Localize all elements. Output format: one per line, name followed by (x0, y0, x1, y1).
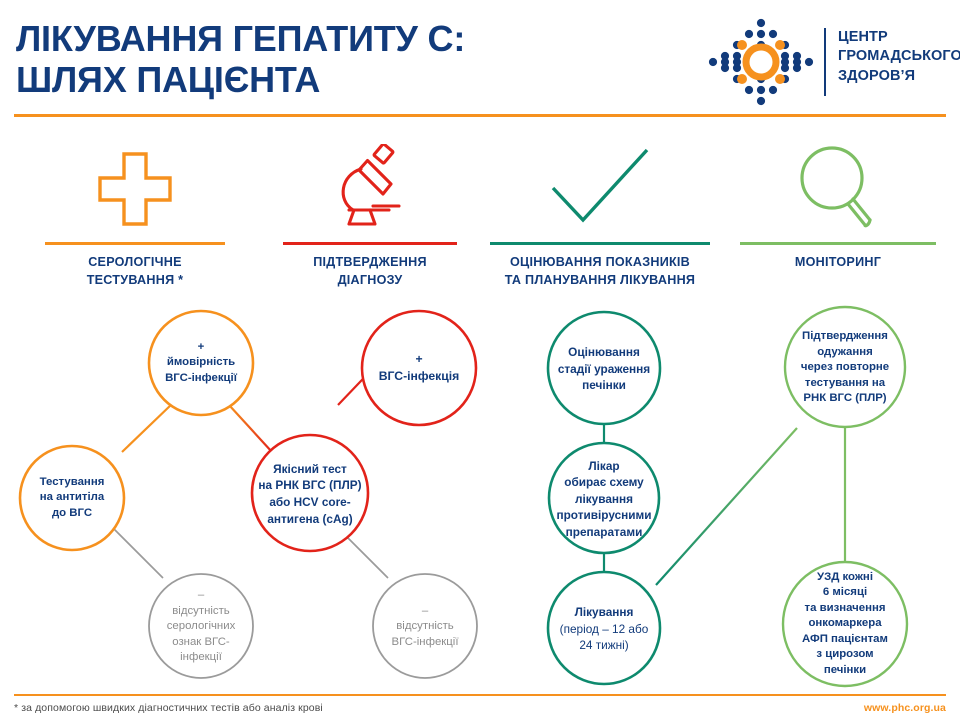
node-circle-cure-confirmation[interactable] (785, 307, 905, 427)
connector-rna-to-nohcv (343, 533, 388, 578)
infographic-page: ЛІКУВАННЯ ГЕПАТИТУ С: ШЛЯХ ПАЦІЄНТА (0, 0, 960, 720)
connector-treatment-to-cure (656, 428, 797, 585)
website-url[interactable]: www.phc.org.ua (864, 702, 946, 714)
node-circle-doctor-scheme[interactable] (549, 443, 659, 553)
node-circle-ultrasound[interactable] (783, 562, 907, 686)
node-circle-rna-test[interactable] (252, 435, 368, 551)
footnote-text: * за допомогою швидких діагностичних тес… (14, 702, 323, 714)
node-circle-probable-hcv[interactable] (149, 311, 253, 415)
footer-divider (14, 694, 946, 696)
node-circle-liver-stage[interactable] (548, 312, 660, 424)
node-circle-antibody-test[interactable] (20, 446, 124, 550)
connector-probable-to-rna (229, 405, 272, 452)
node-circle-hcv-confirmed[interactable] (362, 311, 476, 425)
node-circle-treatment[interactable] (548, 572, 660, 684)
node-circle-no-hcv[interactable] (373, 574, 477, 678)
connector-antibody-to-probable (122, 403, 173, 452)
patient-pathway-diagram (0, 0, 960, 720)
connector-antibody-to-noserology (113, 528, 163, 578)
node-circle-no-serology[interactable] (149, 574, 253, 678)
